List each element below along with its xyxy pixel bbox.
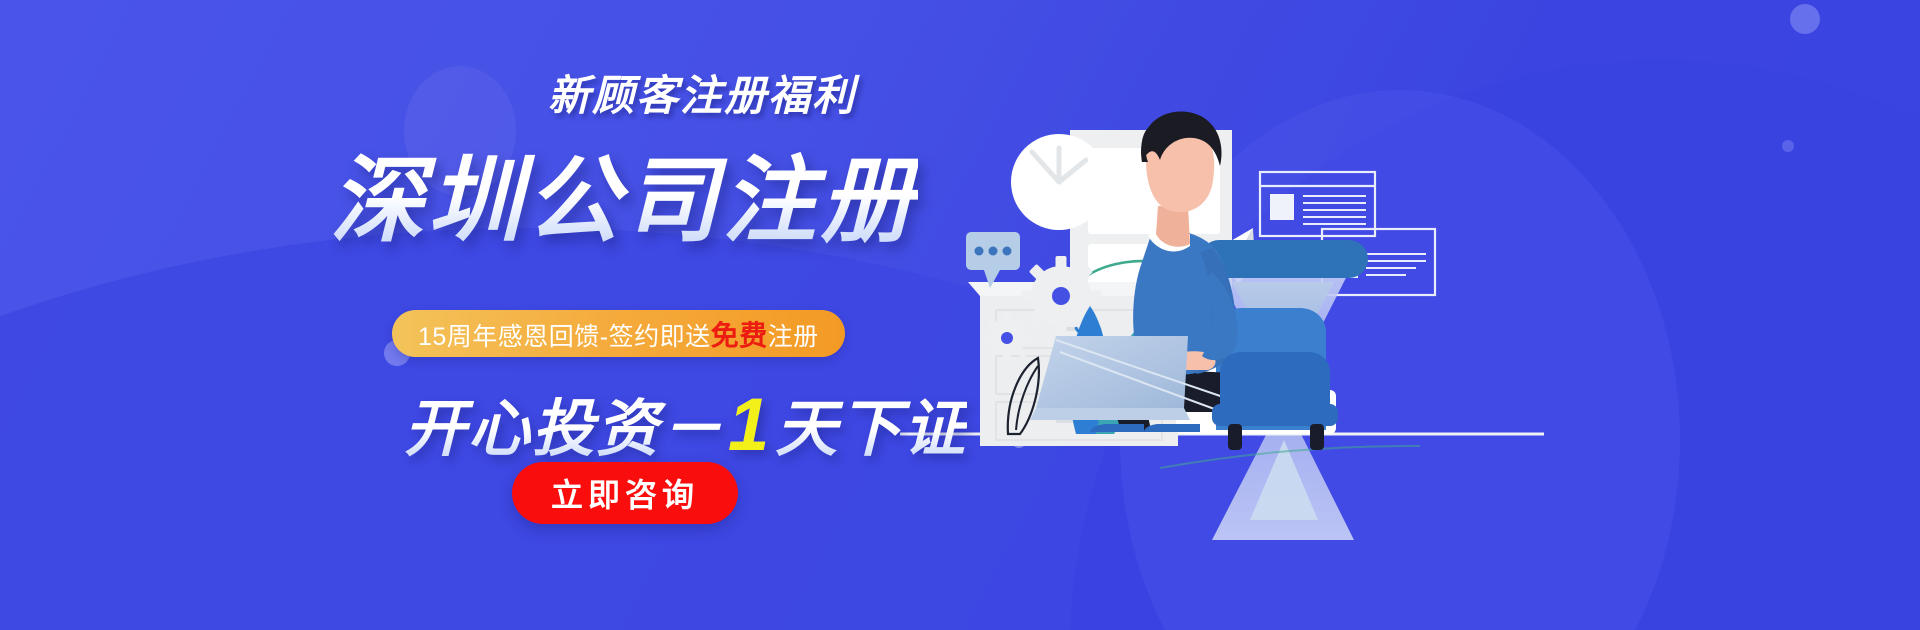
promo-badge: 15周年感恩回馈-签约即送免费注册 bbox=[392, 310, 845, 357]
page-title: 深圳公司注册 bbox=[330, 125, 918, 261]
promo-banner: 新顾客注册福利 深圳公司注册 15周年感恩回馈-签约即送免费注册 开心投资－1天… bbox=[0, 0, 1920, 630]
promo-badge-text: 15周年感恩回馈-签约即送免费注册 bbox=[418, 314, 819, 354]
subheadline-number: 1 bbox=[724, 383, 775, 466]
copy-block: 新顾客注册福利 深圳公司注册 15周年感恩回馈-签约即送免费注册 开心投资－1天… bbox=[0, 0, 1060, 630]
consult-now-label: 立即咨询 bbox=[551, 470, 699, 516]
consult-now-button[interactable]: 立即咨询 bbox=[512, 462, 738, 524]
subheadline-after: 天下证 bbox=[775, 395, 967, 464]
promo-prefix: 15周年感恩回馈-签约即送 bbox=[418, 323, 711, 351]
subheadline-before: 开心投资－ bbox=[404, 395, 724, 464]
subheadline: 开心投资－1天下证 bbox=[404, 378, 967, 468]
document-card-back bbox=[1260, 172, 1375, 236]
eyebrow-text: 新顾客注册福利 bbox=[548, 62, 856, 123]
promo-highlight: 免费 bbox=[711, 320, 768, 351]
promo-suffix: 注册 bbox=[768, 323, 819, 351]
